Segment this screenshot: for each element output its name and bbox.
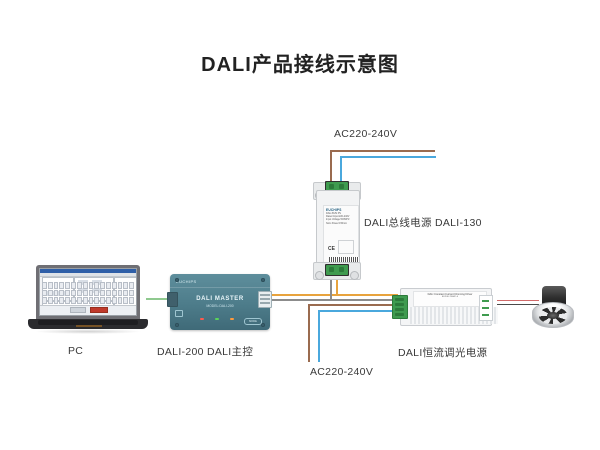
grid-cell[interactable] bbox=[77, 282, 82, 289]
grid-cell[interactable] bbox=[89, 297, 94, 304]
device-dali-dimming-driver[interactable]: DALI Constant Current Dimming Driver EUP… bbox=[392, 288, 498, 324]
downlight-led-core bbox=[547, 312, 559, 319]
grid-cell[interactable] bbox=[94, 282, 99, 289]
laptop-lid bbox=[36, 265, 140, 319]
driver-output-terminal[interactable] bbox=[479, 295, 493, 321]
grid-cell[interactable] bbox=[123, 290, 128, 297]
wire-mains-live-bottom-horizontal bbox=[308, 304, 392, 306]
psu-spec-line-3: Nom.Power:150mA bbox=[326, 222, 356, 225]
master-screw-hole bbox=[175, 278, 179, 282]
led-indicator-work bbox=[230, 318, 234, 320]
grid-cell[interactable] bbox=[118, 297, 123, 304]
label-ac-bottom: AC220-240V bbox=[310, 366, 373, 378]
psu-spec-label: EUCHIPS DALI-BUS PS Rated Input:220-240V… bbox=[323, 205, 359, 267]
grid-cell[interactable] bbox=[54, 290, 59, 297]
grid-cell[interactable] bbox=[65, 297, 70, 304]
label-pc: PC bbox=[68, 345, 83, 357]
grid-cell[interactable] bbox=[54, 282, 59, 289]
grid-cell[interactable] bbox=[106, 290, 111, 297]
grid-cell[interactable] bbox=[112, 297, 117, 304]
psu-output-terminal[interactable] bbox=[325, 264, 349, 276]
master-screw-hole bbox=[261, 323, 265, 327]
grid-cell[interactable] bbox=[77, 297, 82, 304]
laptop-base bbox=[28, 319, 148, 329]
grid-cell[interactable] bbox=[89, 290, 94, 297]
grid-cell[interactable] bbox=[48, 290, 53, 297]
grid-cell[interactable] bbox=[106, 297, 111, 304]
psu-mount-screw bbox=[315, 271, 324, 280]
psu-output-terminal-block bbox=[326, 265, 348, 275]
led-indicator-dali bbox=[215, 318, 219, 320]
grid-cell[interactable] bbox=[83, 297, 88, 304]
wire-mains-live-bottom-vertical bbox=[308, 304, 310, 362]
grid-cell[interactable] bbox=[100, 282, 105, 289]
page-title: DALI产品接线示意图 bbox=[0, 48, 600, 77]
master-dali-terminal[interactable] bbox=[258, 291, 272, 308]
grid-cell[interactable] bbox=[89, 282, 94, 289]
laptop-base-glow bbox=[76, 325, 102, 327]
master-mode-button[interactable]: MODE bbox=[244, 318, 262, 325]
grid-cell[interactable] bbox=[42, 290, 47, 297]
grid-cell[interactable] bbox=[65, 282, 70, 289]
laptop-pc[interactable] bbox=[28, 265, 148, 335]
grid-cell[interactable] bbox=[129, 297, 134, 304]
master-top-strip bbox=[170, 287, 270, 288]
wire-dali-a-junction-to-driver bbox=[336, 294, 398, 296]
grid-cell[interactable] bbox=[54, 297, 59, 304]
grid-cell[interactable] bbox=[94, 297, 99, 304]
grid-cell[interactable] bbox=[77, 290, 82, 297]
device-led-downlight[interactable] bbox=[530, 286, 576, 330]
driver-body: DALI Constant Current Dimming Driver EUP… bbox=[400, 288, 492, 326]
grid-cell[interactable] bbox=[59, 297, 64, 304]
led-indicator-pwr bbox=[200, 318, 204, 320]
wire-mains-neutral-top-horizontal bbox=[340, 156, 436, 158]
driver-spec-label: DALI Constant Current Dimming Driver EUP… bbox=[413, 291, 487, 307]
label-dali-bus-power-supply: DALI总线电源 DALI-130 bbox=[364, 215, 482, 230]
grid-cell[interactable] bbox=[59, 290, 64, 297]
grid-cell[interactable] bbox=[71, 282, 76, 289]
grid-cell[interactable] bbox=[48, 297, 53, 304]
master-screw-hole bbox=[175, 323, 179, 327]
grid-cell[interactable] bbox=[42, 297, 47, 304]
ce-mark-icon: CE bbox=[328, 246, 335, 252]
master-brand-logo: EUCHIPS bbox=[176, 279, 197, 284]
psu-mount-screw bbox=[350, 271, 359, 280]
grid-cell[interactable] bbox=[94, 290, 99, 297]
software-address-grid[interactable] bbox=[42, 282, 134, 304]
laptop-screen[interactable] bbox=[39, 268, 137, 316]
grid-cell[interactable] bbox=[123, 282, 128, 289]
grid-cell[interactable] bbox=[48, 282, 53, 289]
wire-mains-neutral-bottom-vertical bbox=[318, 310, 320, 362]
grid-cell[interactable] bbox=[83, 290, 88, 297]
driver-model-text: EUP40-1WMC-0 bbox=[414, 296, 486, 298]
wire-dali-b-junction-to-driver bbox=[330, 299, 398, 301]
label-dali-master: DALI-200 DALI主控 bbox=[157, 344, 253, 359]
software-status-bar bbox=[40, 305, 136, 315]
grid-cell[interactable] bbox=[112, 290, 117, 297]
software-ok-button[interactable] bbox=[70, 307, 86, 313]
grid-cell[interactable] bbox=[100, 297, 105, 304]
grid-cell[interactable] bbox=[71, 297, 76, 304]
usb-icon bbox=[175, 310, 183, 317]
grid-cell[interactable] bbox=[118, 282, 123, 289]
wire-dali-a-master-to-junction bbox=[267, 294, 337, 296]
driver-input-terminal[interactable] bbox=[392, 295, 408, 319]
grid-cell[interactable] bbox=[59, 282, 64, 289]
grid-cell[interactable] bbox=[71, 290, 76, 297]
label-dali-dimming-driver: DALI恒流调光电源 bbox=[398, 345, 487, 360]
wire-mains-neutral-bottom-horizontal bbox=[318, 310, 392, 312]
diagram-canvas: DALI产品接线示意图 bbox=[0, 0, 600, 450]
grid-cell[interactable] bbox=[123, 297, 128, 304]
grid-cell[interactable] bbox=[83, 282, 88, 289]
master-product-name: DALI MASTER bbox=[170, 296, 270, 302]
grid-cell[interactable] bbox=[118, 290, 123, 297]
grid-cell[interactable] bbox=[129, 290, 134, 297]
wire-dali-b-master-to-junction bbox=[267, 299, 337, 301]
psu-output-diagram bbox=[338, 240, 354, 254]
grid-cell[interactable] bbox=[42, 282, 47, 289]
psu-body: L N EUCHIPS DALI-BUS PS Rated Input:220-… bbox=[316, 190, 360, 272]
device-dali-bus-power-supply[interactable]: L N EUCHIPS DALI-BUS PS Rated Input:220-… bbox=[313, 176, 361, 284]
wire-mains-live-top-horizontal bbox=[330, 150, 435, 152]
grid-cell[interactable] bbox=[112, 282, 117, 289]
label-ac-top: AC220-240V bbox=[334, 128, 397, 140]
grid-cell[interactable] bbox=[129, 282, 134, 289]
grid-cell[interactable] bbox=[106, 282, 111, 289]
laptop-shadow bbox=[34, 329, 142, 334]
grid-cell[interactable] bbox=[100, 290, 105, 297]
master-screw-hole bbox=[261, 278, 265, 282]
master-model-text: MODEL:DALI-200 bbox=[170, 304, 270, 308]
grid-cell[interactable] bbox=[65, 290, 70, 297]
software-stop-button[interactable] bbox=[90, 307, 108, 313]
device-dali-master[interactable]: EUCHIPS DALI MASTER MODEL:DALI-200 MODE bbox=[170, 274, 270, 330]
